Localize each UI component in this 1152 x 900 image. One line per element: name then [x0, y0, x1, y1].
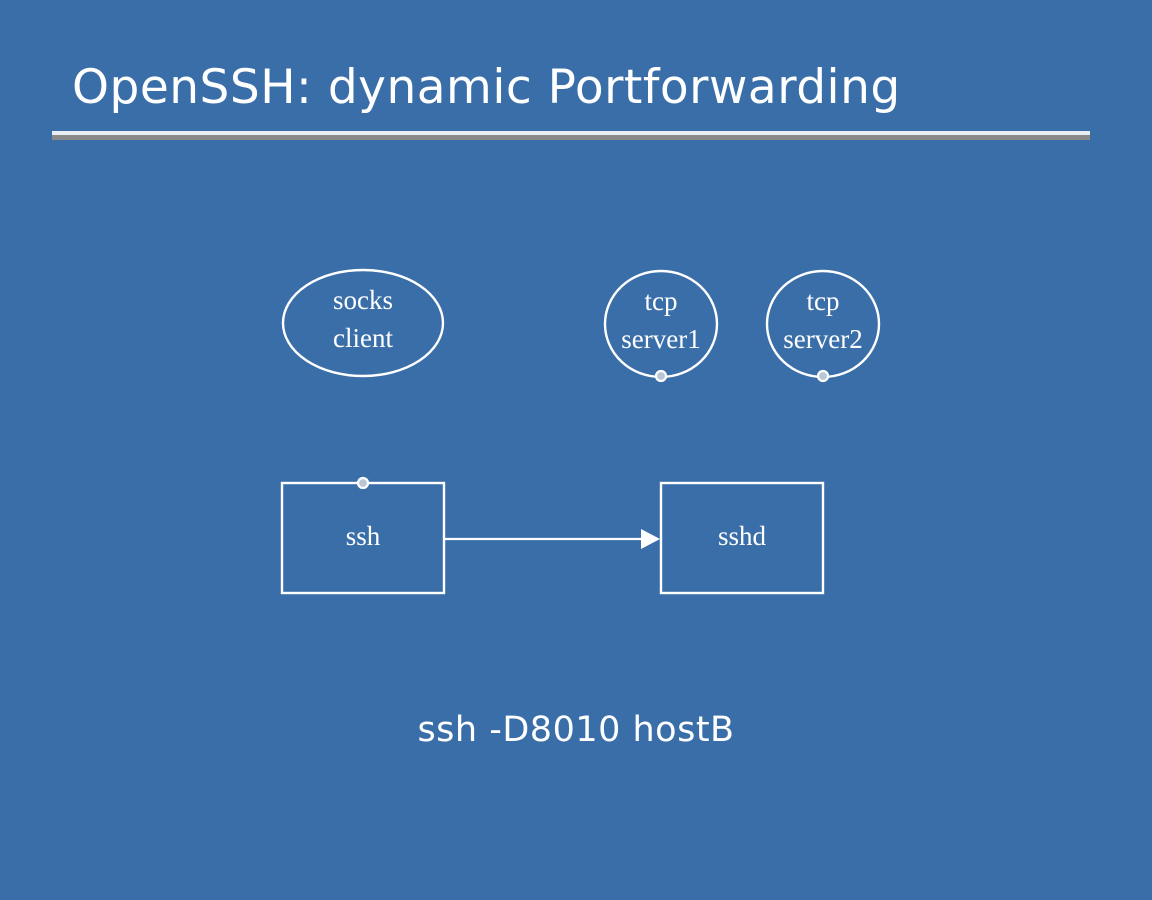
ssh-port-dot[interactable] [358, 478, 368, 488]
ssh-label: ssh [346, 521, 381, 551]
socks-client-label-line1: socks [333, 285, 393, 315]
node-ssh[interactable]: ssh [282, 478, 444, 593]
node-tcp-server2[interactable]: tcp server2 [767, 271, 879, 381]
tcp-server2-port-dot[interactable] [818, 371, 828, 381]
sshd-label: sshd [718, 521, 767, 551]
socks-client-label-line2: client [333, 323, 393, 353]
node-sshd[interactable]: sshd [661, 483, 823, 593]
ssh-sshd-arrowhead [641, 529, 660, 549]
node-socks-client[interactable]: socks client [283, 270, 443, 376]
node-tcp-server1[interactable]: tcp server1 [605, 271, 717, 381]
edge-ssh-to-sshd [444, 529, 660, 549]
tcp-server1-label-line2: server1 [621, 324, 700, 354]
tcp-server1-label-line1: tcp [645, 286, 678, 316]
network-diagram: socks client tcp server1 tcp server2 ssh… [0, 0, 1152, 900]
tcp-server2-label-line1: tcp [807, 286, 840, 316]
command-caption: ssh -D8010 hostB [0, 710, 1152, 750]
tcp-server1-port-dot[interactable] [656, 371, 666, 381]
tcp-server2-label-line2: server2 [783, 324, 862, 354]
